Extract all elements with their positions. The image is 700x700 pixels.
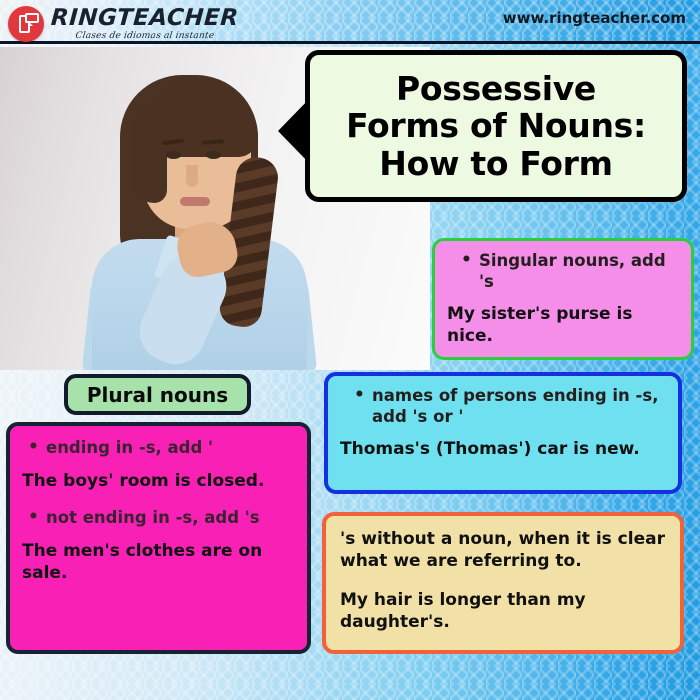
title-callout: Possessive Forms of Nouns: How to Form [305, 50, 687, 202]
logo-brand-name: RINGTEACHER [50, 7, 239, 30]
no-noun-rule: 's without a noun, when it is clear what… [340, 528, 666, 572]
plural-example-2: The men's clothes are on sale. [22, 541, 295, 585]
card-singular-nouns: Singular nouns, add 's My sister's purse… [432, 238, 694, 360]
figure-eye-right [206, 151, 221, 159]
label-plural-nouns-text: Plural nouns [87, 383, 228, 407]
card-plural-rules: ending in -s, add ' The boys' room is cl… [6, 422, 311, 654]
names-rule: names of persons ending in -s, add 's or… [344, 386, 666, 427]
page-title: Possessive Forms of Nouns: How to Form [346, 70, 646, 183]
figure-lips [180, 197, 210, 206]
figure-eye-left [166, 151, 181, 159]
names-rule-list: names of persons ending in -s, add 's or… [344, 386, 666, 427]
page-title-line-1: Possessive [346, 70, 646, 108]
plural-rule-list-2: not ending in -s, add 's [18, 508, 295, 529]
singular-rule: Singular nouns, add 's [451, 251, 679, 292]
speech-bubble-icon [25, 13, 39, 23]
brand-logo[interactable]: RINGTEACHER Clases de idiomas al instant… [8, 6, 239, 42]
card-possessive-without-noun: 's without a noun, when it is clear what… [322, 512, 684, 654]
plural-rule-1: ending in -s, add ' [18, 438, 295, 459]
page-title-line-2: Forms of Nouns: [346, 107, 646, 145]
label-plural-nouns: Plural nouns [64, 374, 251, 415]
singular-example: My sister's purse is nice. [447, 304, 679, 348]
figure-nose [186, 165, 198, 187]
plural-rule-list-1: ending in -s, add ' [18, 438, 295, 459]
logo-text: RINGTEACHER Clases de idiomas al instant… [51, 7, 239, 41]
page-title-line-3: How to Form [346, 145, 646, 183]
card-names-ending-s: names of persons ending in -s, add 's or… [324, 372, 682, 494]
site-url[interactable]: www.ringteacher.com [503, 9, 686, 27]
names-example: Thomas's (Thomas') car is new. [340, 439, 666, 461]
phone-chat-icon [8, 6, 44, 42]
plural-example-1: The boys' room is closed. [22, 471, 295, 493]
plural-rule-2: not ending in -s, add 's [18, 508, 295, 529]
logo-tagline: Clases de idiomas al instante [50, 32, 239, 41]
singular-rule-list: Singular nouns, add 's [451, 251, 679, 292]
figure-hair-side [133, 107, 167, 203]
no-noun-example: My hair is longer than my daughter's. [340, 590, 666, 634]
